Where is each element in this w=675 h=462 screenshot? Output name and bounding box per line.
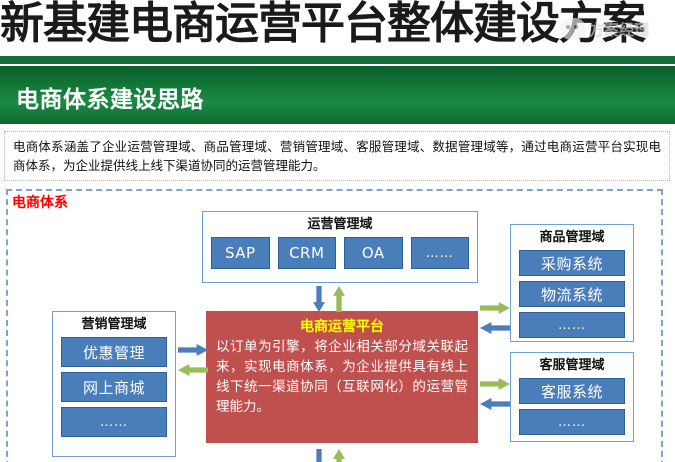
slide-canvas: 新基建电商运营平台整体建设方案 方案经理 电商体系建设思路 电商体系涵盖了企业运… — [0, 0, 675, 462]
chip-logistics-system[interactable]: 物流系统 — [519, 281, 625, 307]
panel-goods-title: 商品管理域 — [515, 229, 629, 247]
platform-body-text: 以订单为引擎，将企业相关部分域关联起来，实现电商体系，为企业提供具有线上线下统一… — [216, 337, 468, 417]
chip-service-more[interactable]: …… — [519, 409, 625, 435]
platform-title: 电商运营平台 — [216, 317, 468, 337]
chip-sap[interactable]: SAP — [211, 237, 270, 269]
panel-goods-domain: 商品管理域 采购系统 物流系统 …… — [510, 224, 634, 342]
chip-procurement-system[interactable]: 采购系统 — [519, 250, 625, 276]
panel-service-domain: 客服管理域 客服系统 …… — [510, 352, 634, 442]
section-header-bar: 电商体系建设思路 — [0, 66, 675, 124]
chip-operations-more[interactable]: …… — [411, 237, 470, 269]
goods-chip-stack: 采购系统 物流系统 …… — [515, 250, 629, 338]
description-box: 电商体系涵盖了企业运营管理域、商品管理域、营销管理域、客服管理域、数据管理域等，… — [4, 131, 670, 181]
panel-operations-domain: 运营管理域 SAP CRM OA …… — [202, 211, 478, 283]
title-divider — [0, 56, 675, 64]
chip-goods-more[interactable]: …… — [519, 312, 625, 338]
chip-marketing-more[interactable]: …… — [61, 407, 167, 437]
page-title: 新基建电商运营平台整体建设方案 — [0, 0, 675, 52]
marketing-chip-stack: 优惠管理 网上商城 …… — [57, 337, 171, 437]
panel-marketing-domain: 营销管理域 优惠管理 网上商城 …… — [52, 311, 176, 457]
section-heading: 电商体系建设思路 — [16, 80, 204, 114]
chip-customer-service-system[interactable]: 客服系统 — [519, 378, 625, 404]
ecommerce-platform-box: 电商运营平台 以订单为引擎，将企业相关部分域关联起来，实现电商体系，为企业提供具… — [206, 311, 478, 443]
service-chip-stack: 客服系统 …… — [515, 378, 629, 435]
panel-marketing-title: 营销管理域 — [57, 316, 171, 334]
panel-operations-title: 运营管理域 — [207, 216, 473, 234]
chip-promotion-management[interactable]: 优惠管理 — [61, 337, 167, 367]
chip-crm[interactable]: CRM — [278, 237, 337, 269]
diagram-label: 电商体系 — [12, 192, 68, 212]
description-text: 电商体系涵盖了企业运营管理域、商品管理域、营销管理域、客服管理域、数据管理域等，… — [13, 137, 661, 175]
operations-chip-row: SAP CRM OA …… — [207, 237, 473, 269]
chip-online-mall[interactable]: 网上商城 — [61, 372, 167, 402]
panel-service-title: 客服管理域 — [515, 357, 629, 375]
chip-oa[interactable]: OA — [344, 237, 403, 269]
